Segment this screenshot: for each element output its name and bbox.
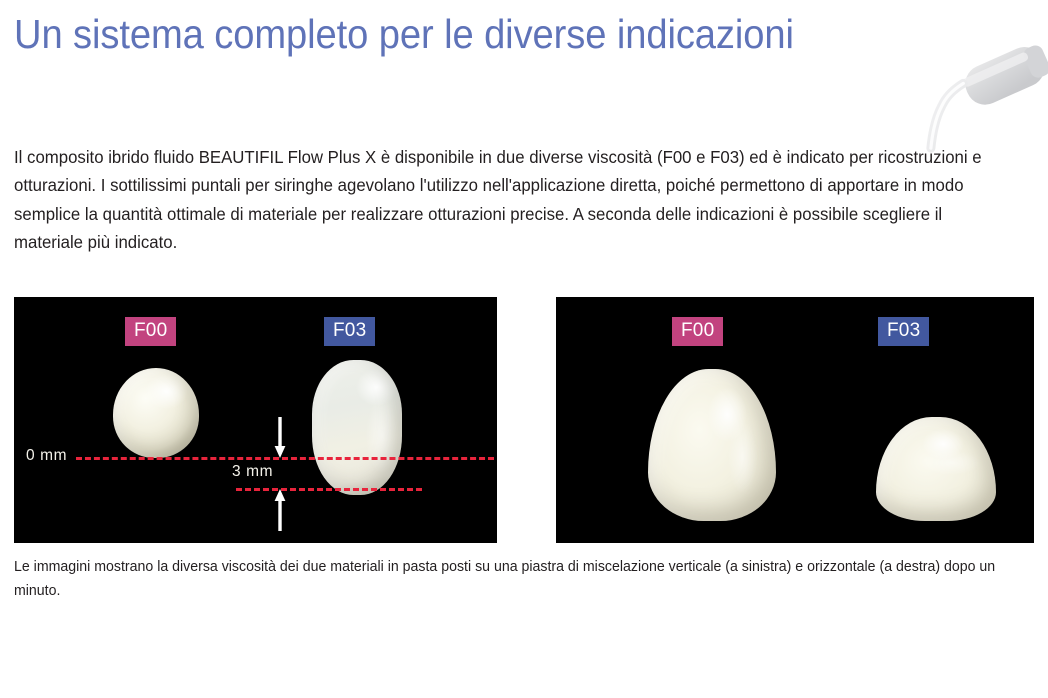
horizontal-plate-panel: F00 F03 [556,297,1034,543]
badge-f00-vertical: F00 [125,317,176,346]
vertical-plate-panel: F00 F03 0 mm 3 mm [14,297,497,543]
specimen-f03-horizontal [876,417,996,521]
badge-f03-horizontal: F03 [878,317,929,346]
specimen-f03-vertical [312,360,402,495]
intro-paragraph: Il composito ibrido fluido BEAUTIFIL Flo… [14,143,1000,257]
specimen-f00-horizontal [648,369,776,521]
arrow-down-icon [272,417,288,459]
three-mm-dashed-line [236,488,422,491]
badge-f00-horizontal: F00 [672,317,723,346]
specimen-f00-vertical [113,368,199,458]
arrow-up-icon [272,487,288,531]
syringe-tip-icon [904,24,1048,154]
page-title: Un sistema completo per le diverse indic… [14,8,794,60]
badge-f03-vertical: F03 [324,317,375,346]
zero-mm-label: 0 mm [26,447,67,465]
three-mm-label: 3 mm [232,463,273,481]
comparison-figure: F00 F03 0 mm 3 mm F00 F03 [14,297,1034,543]
figure-caption: Le immagini mostrano la diversa viscosit… [14,555,1005,603]
